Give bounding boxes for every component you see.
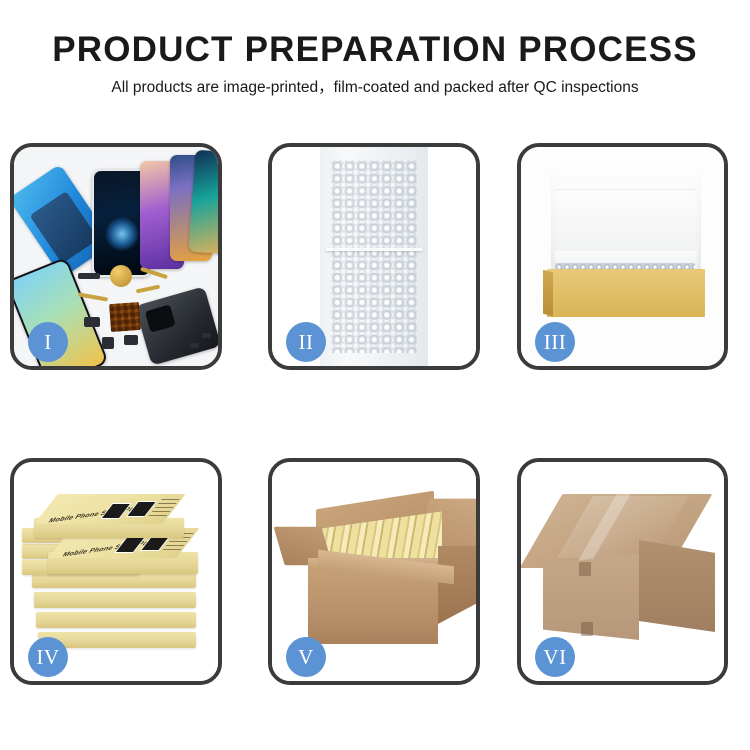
retail-box-lid: Mobile Phone Spare Parts xyxy=(34,494,185,524)
sealed-carton-handle-tab xyxy=(579,562,591,576)
inner-box-tray xyxy=(547,269,705,317)
sealed-carton-handle-tab xyxy=(581,622,593,636)
small-part xyxy=(124,335,138,345)
step-panel-4[interactable]: Mobile Phone Spare Parts Mobile Phone Sp… xyxy=(10,458,222,685)
step-panel-5[interactable]: V xyxy=(268,458,480,685)
small-part xyxy=(78,273,100,279)
retail-box xyxy=(36,612,196,628)
speaker-component xyxy=(110,265,132,287)
bubble-wrap-seam xyxy=(326,248,422,251)
step-badge-1: I xyxy=(28,322,68,362)
step-badge-6: VI xyxy=(535,637,575,677)
logic-board-component xyxy=(109,302,141,332)
step-badge-4: IV xyxy=(28,637,68,677)
retail-box xyxy=(34,592,196,608)
sealed-carton-right-face xyxy=(639,540,715,632)
screw xyxy=(202,333,211,338)
steps-grid: I II III xyxy=(0,0,750,750)
small-part xyxy=(102,337,114,349)
product-preparation-infographic: PRODUCT PREPARATION PROCESS All products… xyxy=(0,0,750,750)
step-badge-2: II xyxy=(286,322,326,362)
step-badge-5: V xyxy=(286,637,326,677)
step-badge-3: III xyxy=(535,322,575,362)
inner-box-tray-side xyxy=(543,270,553,316)
step-panel-1[interactable]: I xyxy=(10,143,222,370)
step-panel-6[interactable]: VI xyxy=(517,458,728,685)
step-panel-3[interactable]: III xyxy=(517,143,728,370)
bubble-wrap-bubbles-offset xyxy=(331,160,417,353)
screw xyxy=(190,343,199,348)
step-panel-2[interactable]: II xyxy=(268,143,480,370)
small-part xyxy=(84,317,100,327)
